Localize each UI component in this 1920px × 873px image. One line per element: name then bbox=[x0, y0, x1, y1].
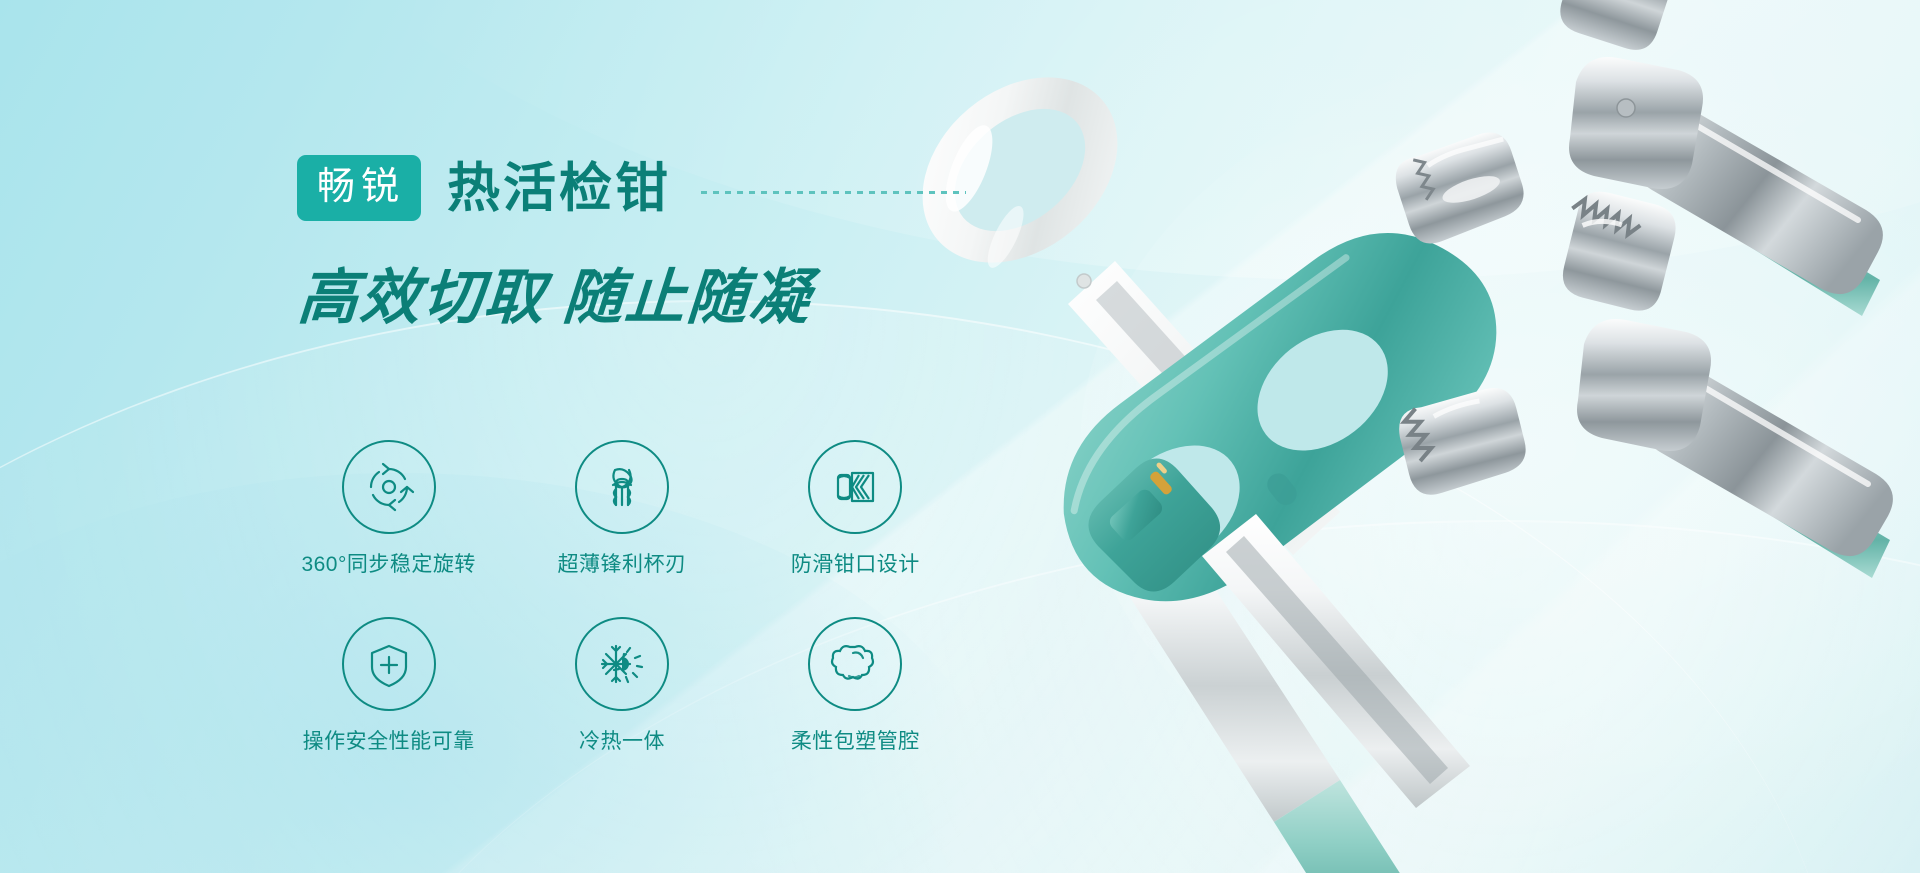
feature-icon-frame bbox=[808, 617, 902, 711]
handle-teal-grip bbox=[1019, 182, 1537, 653]
flexible-lumen-icon bbox=[829, 638, 881, 690]
product-photo bbox=[870, 0, 1920, 873]
forceps-jaw-upper bbox=[1389, 0, 1883, 316]
feature-icon-frame bbox=[808, 440, 902, 534]
feature-item: 超薄锋利杯刃 bbox=[505, 440, 738, 575]
page-title: 热活检钳 bbox=[447, 162, 671, 215]
product-shaft bbox=[1202, 514, 1470, 808]
forceps-cup-blade-icon bbox=[596, 461, 648, 513]
feature-label: 柔性包塑管腔 bbox=[791, 731, 920, 752]
feature-label: 操作安全性能可靠 bbox=[303, 731, 475, 752]
connector-collar bbox=[1088, 458, 1220, 591]
shield-plus-icon bbox=[363, 638, 415, 690]
feature-label: 超薄锋利杯刃 bbox=[557, 554, 686, 575]
anti-slip-jaw-icon bbox=[829, 461, 881, 513]
rotation-360-icon bbox=[363, 461, 415, 513]
tagline: 高效切取 随止随凝 bbox=[296, 268, 813, 328]
handle-white-arm bbox=[1068, 261, 1340, 555]
feature-label: 360°同步稳定旋转 bbox=[301, 554, 475, 575]
title-row: 畅锐 热活检钳 bbox=[297, 155, 966, 221]
feature-item: 操作安全性能可靠 bbox=[272, 617, 505, 752]
feature-item: 柔性包塑管腔 bbox=[739, 617, 972, 752]
product-sheath-lower bbox=[1106, 520, 1430, 873]
brand-badge: 畅锐 bbox=[297, 155, 421, 221]
banner-content: 畅锐 热活检钳 高效切取 随止随凝 bbox=[0, 0, 1000, 873]
feature-icon-frame bbox=[575, 440, 669, 534]
feature-item: 防滑钳口设计 bbox=[739, 440, 972, 575]
feature-icon-frame bbox=[575, 617, 669, 711]
forceps-jaw-lower bbox=[1394, 185, 1893, 578]
product-banner: 畅锐 热活检钳 高效切取 随止随凝 bbox=[0, 0, 1920, 873]
feature-item: 360°同步稳定旋转 bbox=[272, 440, 505, 575]
dashed-divider-icon bbox=[701, 191, 966, 194]
snowflake-sun-icon bbox=[596, 638, 648, 690]
feature-item: 冷热一体 bbox=[505, 617, 738, 752]
feature-label: 冷热一体 bbox=[579, 731, 665, 752]
background-right-glow bbox=[1080, 40, 1920, 860]
feature-icon-frame bbox=[342, 617, 436, 711]
feature-label: 防滑钳口设计 bbox=[791, 554, 920, 575]
feature-icon-frame bbox=[342, 440, 436, 534]
feature-grid: 360°同步稳定旋转 超薄锋利杯刃 bbox=[272, 440, 972, 752]
